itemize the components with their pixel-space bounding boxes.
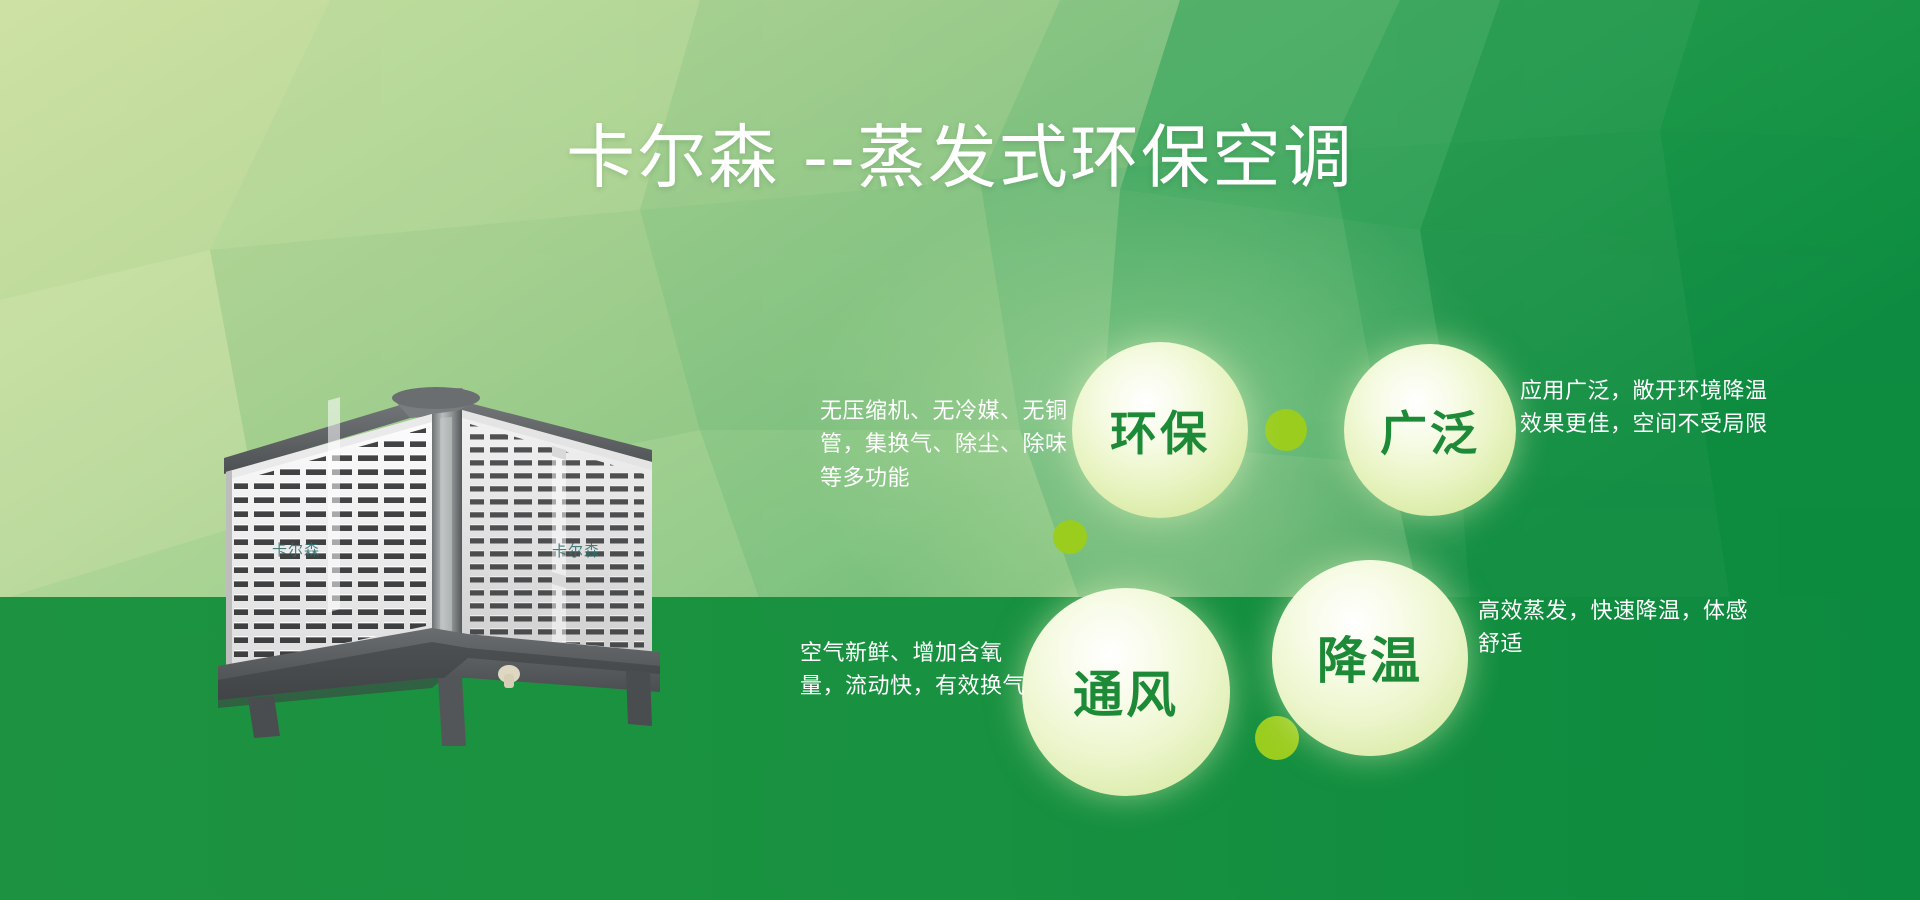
feature-bubble-label: 广泛: [1380, 395, 1480, 464]
feature-bubble-label: 通风: [1073, 655, 1179, 727]
promo-banner: 卡尔森 --蒸发式环保空调: [0, 0, 1920, 900]
feature-bubble-huanbao[interactable]: 环保: [1072, 342, 1248, 518]
accent-dot-icon: [1053, 520, 1087, 554]
feature-bubble-tongfeng[interactable]: 通风: [1022, 588, 1230, 796]
feature-caption-tongfeng: 空气新鲜、增加含氧量，流动快，有效换气: [800, 637, 1030, 704]
product-brand-label-left: 卡尔森: [272, 539, 320, 560]
product-brand-label-right: 卡尔森: [552, 540, 600, 561]
feature-bubble-label: 降温: [1317, 621, 1423, 693]
feature-bubble-guangfan[interactable]: 广泛: [1344, 344, 1516, 516]
page-title: 卡尔森 --蒸发式环保空调: [0, 122, 1920, 194]
feature-caption-huanbao: 无压缩机、无冷媒、无铜管，集换气、除尘、除味等多功能: [820, 395, 1070, 495]
feature-caption-guangfan: 应用广泛，敞开环境降温效果更佳，空间不受局限: [1520, 375, 1770, 442]
accent-dot-icon: [1265, 409, 1307, 451]
feature-caption-jiangwen: 高效蒸发，快速降温，体感舒适: [1478, 595, 1748, 662]
accent-dot-icon: [1255, 716, 1299, 760]
feature-bubble-label: 环保: [1110, 395, 1210, 464]
feature-bubble-jiangwen[interactable]: 降温: [1272, 560, 1468, 756]
